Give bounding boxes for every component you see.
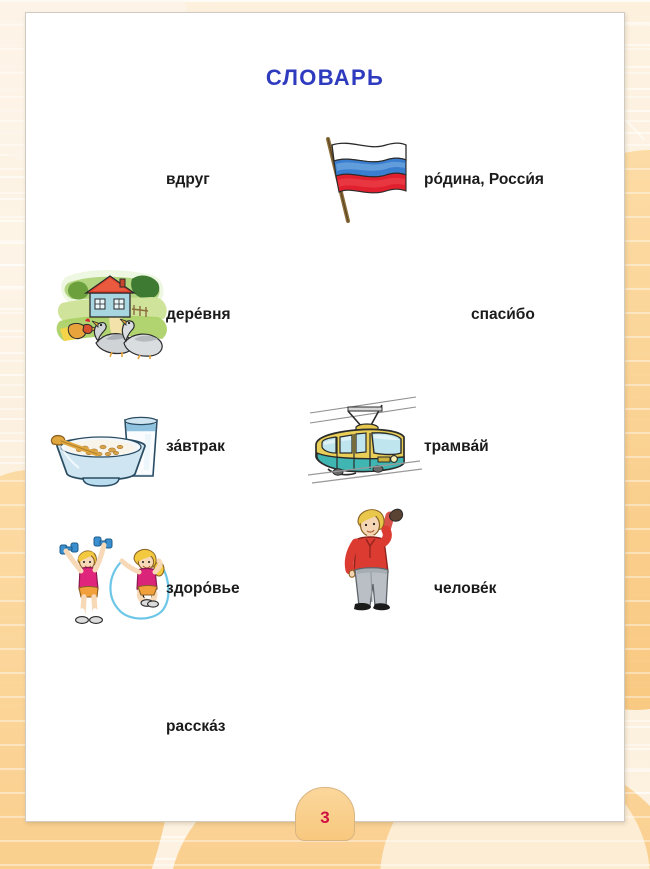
porridge-bowl-milk-glass-illustration	[41, 398, 169, 494]
page-sheet: СЛОВАРЬ вдруг	[25, 12, 625, 822]
vocabulary-word: трамва́й	[424, 438, 489, 456]
village-house-geese-illustration	[54, 263, 174, 359]
vocabulary-word: спаси́бо	[471, 306, 535, 324]
vocabulary-word: за́втрак	[166, 438, 225, 456]
children-exercising-illustration	[58, 531, 182, 627]
russian-flag-illustration	[306, 131, 416, 223]
vocabulary-word: здоро́вье	[166, 580, 240, 598]
vocabulary-word: ро́дина, Росси́я	[424, 171, 544, 189]
man-waving-illustration	[328, 498, 428, 622]
vocabulary-list: вдруг	[26, 13, 624, 821]
page-number: 3	[320, 808, 329, 828]
vocabulary-word: дере́вня	[166, 306, 230, 324]
vocabulary-word: вдруг	[166, 171, 210, 189]
vocabulary-word: расска́з	[166, 718, 225, 736]
vocabulary-word: челове́к	[434, 580, 496, 598]
tram-illustration	[304, 383, 424, 493]
textbook-page: СЛОВАРЬ вдруг	[0, 0, 650, 869]
page-number-tab: 3	[295, 787, 355, 841]
